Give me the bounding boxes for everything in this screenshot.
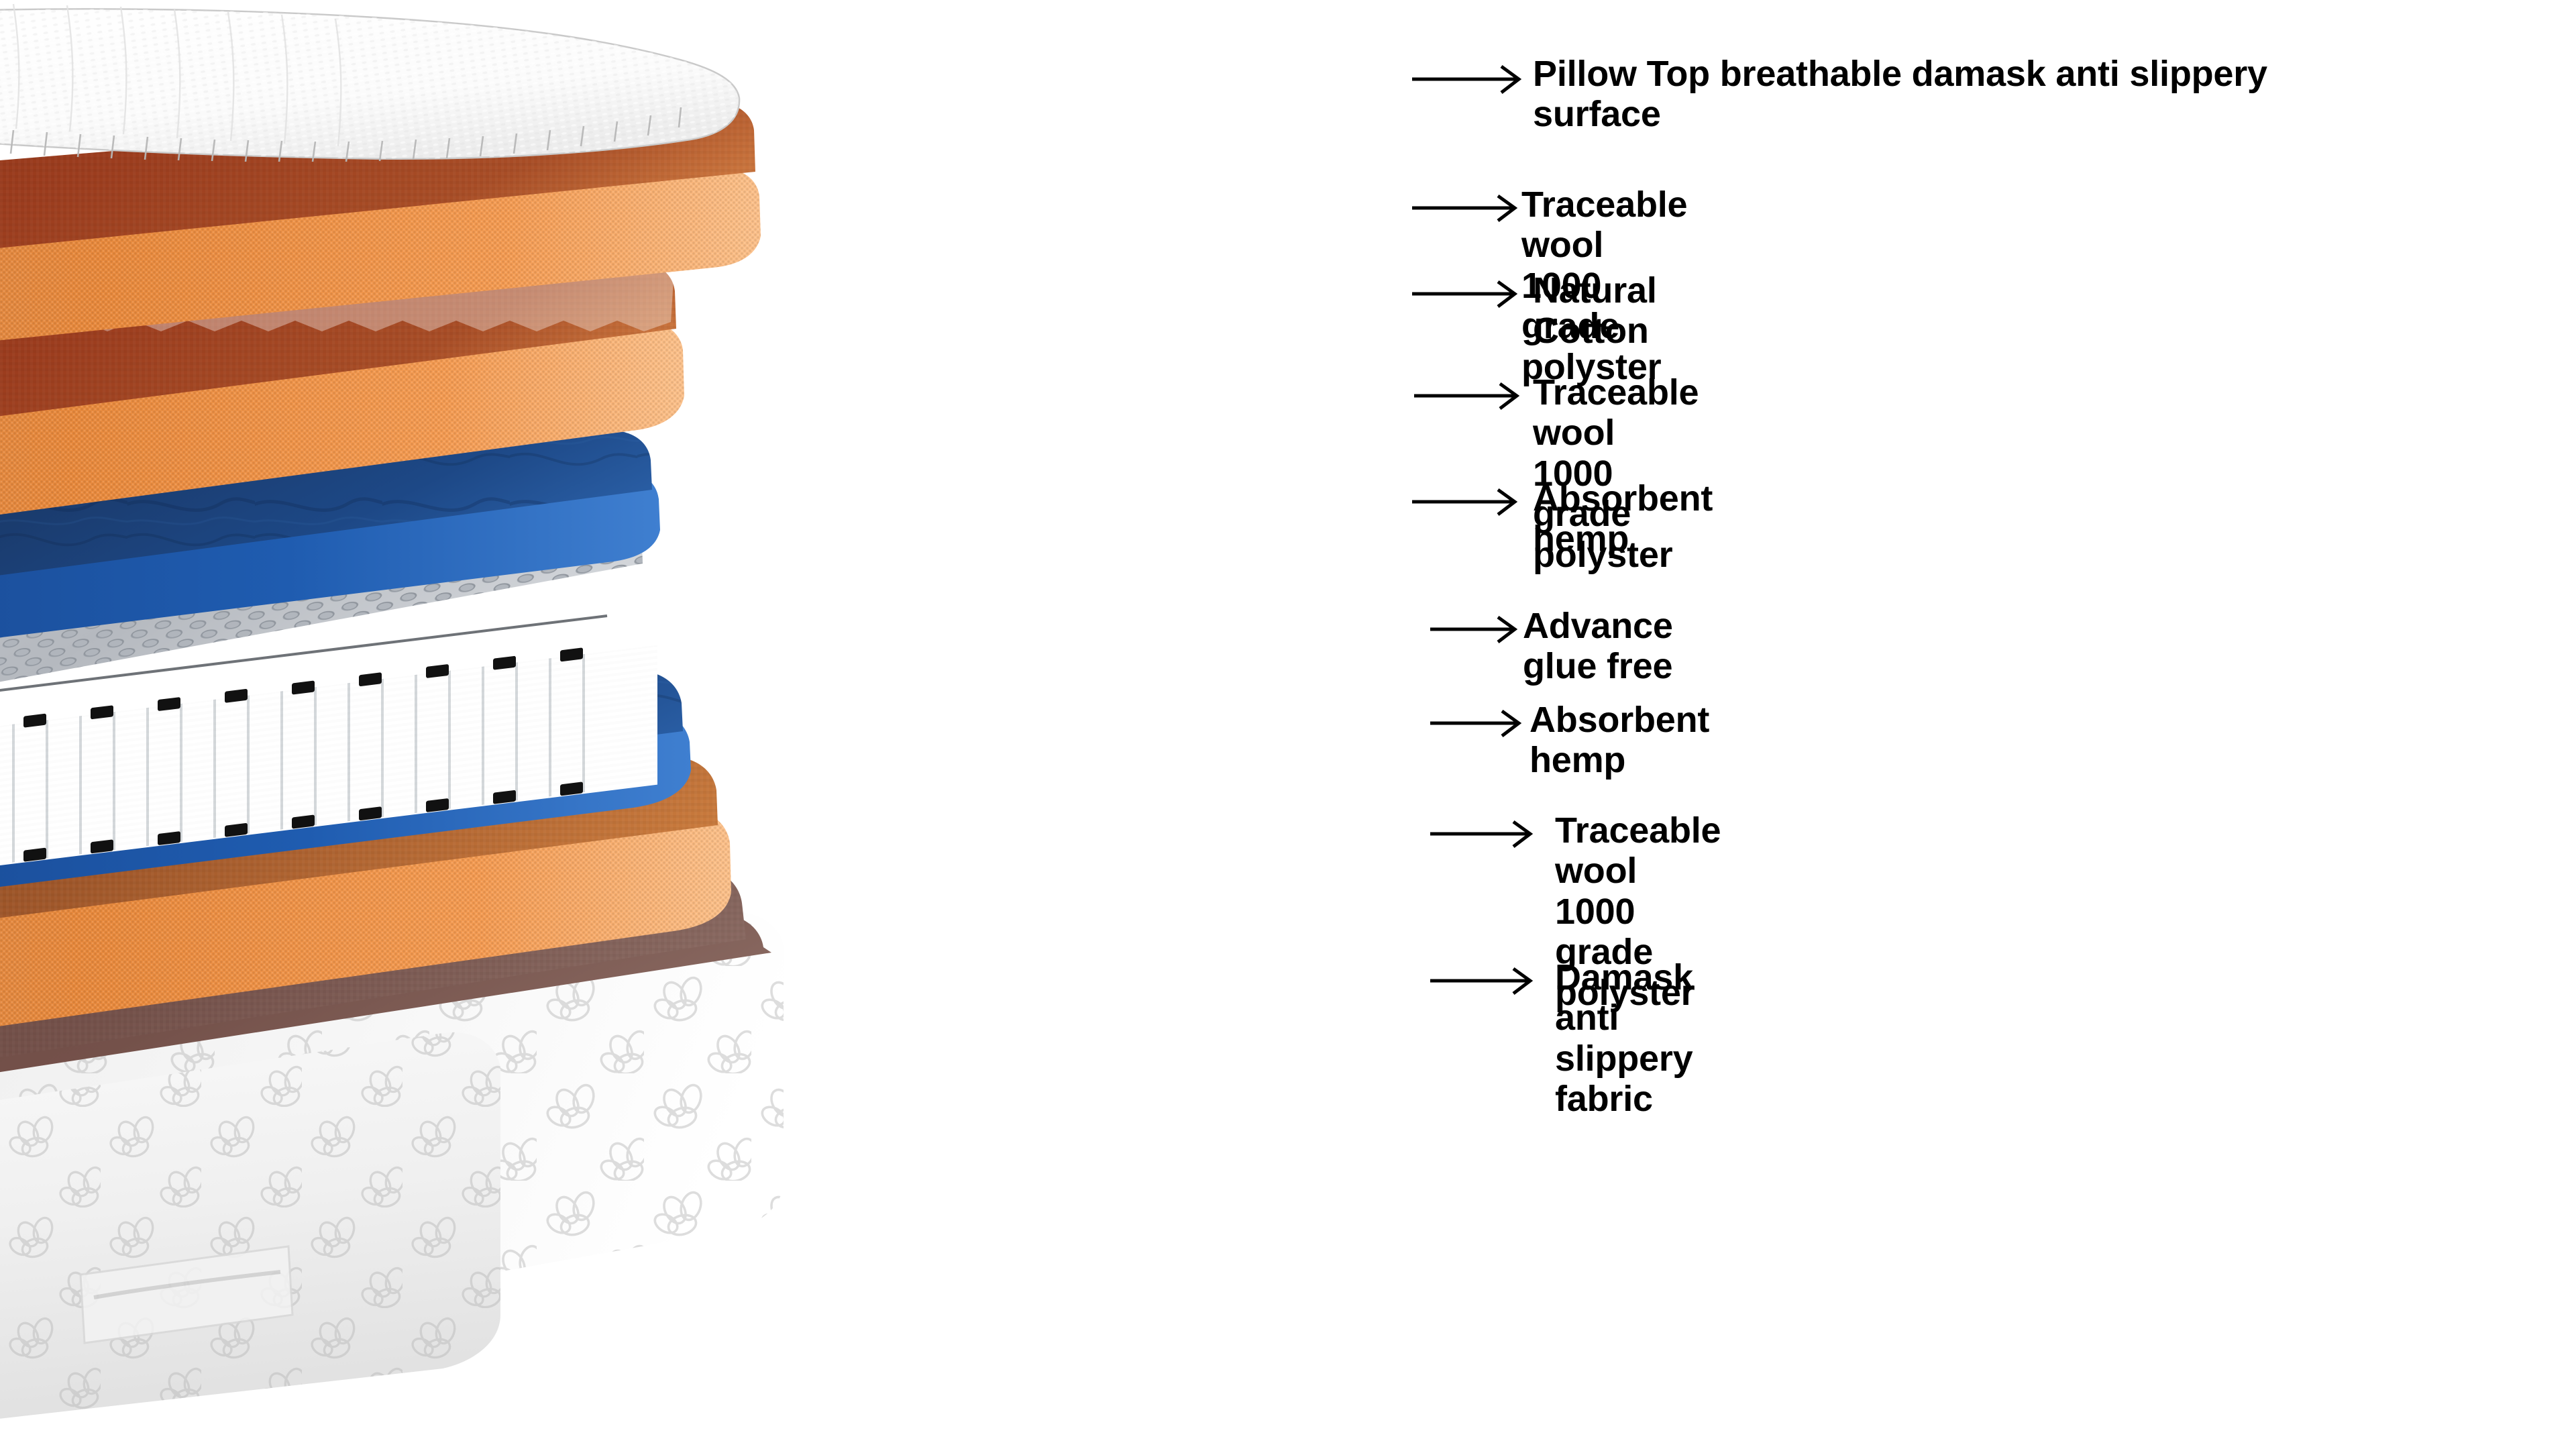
right-arrow-icon [1395,0,1543,704]
right-arrow-icon [1395,0,1529,362]
callout-label: Pillow Top breathable damask anti slippe… [1533,54,2492,135]
right-arrow-icon [1395,0,1529,282]
callout-label: Damask anti slippery fabric [1555,957,1693,1120]
right-arrow-icon [1395,0,1529,134]
callout-label: Absorbent hemp [1533,478,1713,559]
diagram-canvas: Pillow Top breathable damask anti slippe… [0,0,2576,1449]
callout-list: Pillow Top breathable damask anti slippe… [1395,0,2576,1449]
callout-label: Advance glue free [1523,606,1673,687]
right-arrow-icon [1395,0,1543,798]
callout-label: Absorbent hemp [1529,700,1709,781]
right-arrow-icon [1395,0,1529,470]
mattress-layer-illustration [0,0,1409,1449]
right-arrow-icon [1395,0,1529,577]
callout-label: Natural Cotton [1533,270,1657,352]
